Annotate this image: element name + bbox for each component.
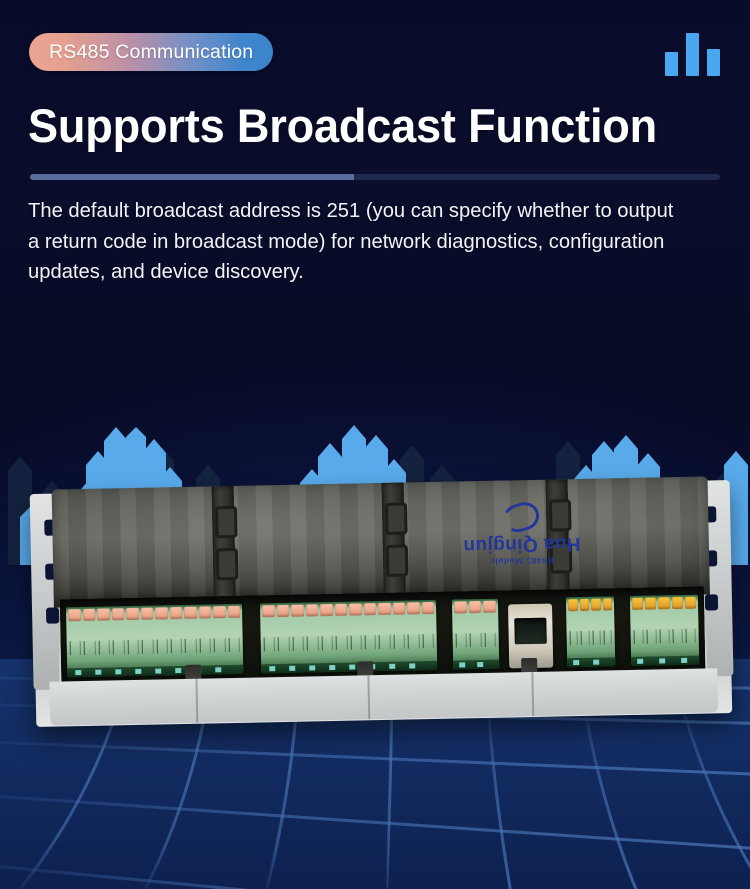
terminal-block-5: [630, 595, 699, 666]
terminal-block-1: [66, 604, 243, 678]
description-text: The default broadcast address is 251 (yo…: [28, 196, 690, 288]
pcb-edge: [261, 661, 437, 674]
terminal-block-2: [260, 600, 437, 674]
pcb-edge: [67, 665, 243, 678]
device-chassis: RS485 Module Hua Qingjun: [32, 476, 733, 735]
title-divider: [30, 174, 720, 180]
terminal-screws: [454, 601, 496, 614]
clip-notch: [46, 607, 59, 623]
terminal-slots: [264, 634, 434, 651]
terminal-slots: [570, 630, 612, 645]
cover-latch: [212, 486, 236, 604]
divider-right-segment: [354, 174, 720, 180]
product-image: RS485 Module Hua Qingjun: [34, 483, 730, 728]
terminal-screws: [568, 598, 612, 611]
brand-mark-icon: [500, 499, 543, 536]
device-brand-logo: RS485 Module Hua Qingjun: [426, 492, 617, 568]
terminal-slots: [456, 633, 496, 648]
page-title: Supports Broadcast Function: [28, 98, 700, 154]
bar-chart-bar-3: [707, 49, 720, 76]
bar-chart-bar-2: [686, 33, 699, 76]
terminal-slots: [634, 629, 696, 644]
poster-root: RS485 Communication Supports Broadcast F…: [0, 0, 750, 889]
pcb-edge: [567, 657, 615, 667]
divider-left-segment: [30, 174, 354, 180]
terminal-slots: [70, 638, 240, 655]
brand-name: Hua Qingjun: [427, 531, 617, 557]
ethernet-port-hole: [514, 618, 547, 645]
terminal-block-4: [566, 596, 615, 667]
panel-seam: [531, 672, 534, 716]
category-badge: RS485 Communication: [29, 33, 273, 71]
terminal-screws: [632, 597, 696, 610]
pcb-edge: [453, 660, 499, 670]
pcb-edge: [631, 656, 699, 666]
bar-chart-bar-1: [665, 52, 678, 76]
panel-seam: [367, 675, 370, 719]
terminal-screws: [68, 606, 240, 621]
cover-latch: [382, 483, 406, 601]
category-badge-label: RS485 Communication: [49, 41, 253, 64]
clip-notch: [705, 594, 718, 610]
panel-seam: [195, 679, 198, 723]
terminal-screws: [262, 602, 434, 617]
bar-chart-icon: [665, 32, 723, 76]
terminal-block-3: [452, 599, 499, 670]
